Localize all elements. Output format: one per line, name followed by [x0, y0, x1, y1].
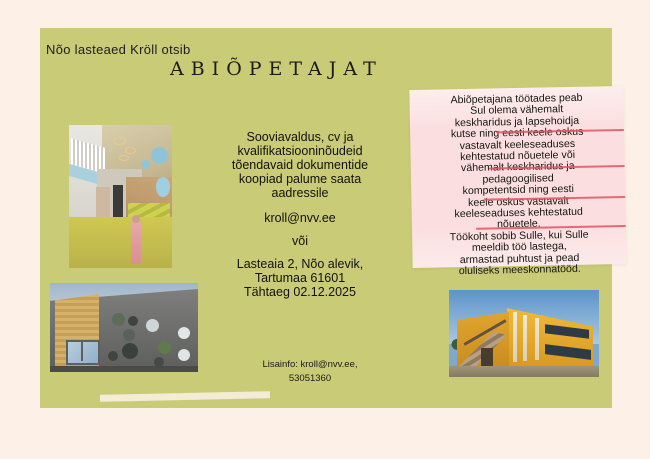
- footer-email-line[interactable]: Lisainfo: kroll@nvv.ee,: [215, 358, 405, 372]
- application-instructions: Sooviavaldus, cv ja kvalifikatsiooninõud…: [196, 130, 404, 299]
- poster-kicker: Nõo lasteaed Kröll otsib: [46, 42, 191, 57]
- intro-line-3: tõendavaid dokumentide: [196, 158, 404, 172]
- spacer: [196, 200, 404, 211]
- ground: [449, 366, 599, 377]
- floor: [69, 217, 172, 268]
- requirements-text: Abiõpetajana töötades peab Sul olema väh…: [413, 92, 622, 278]
- rectangular-window: [66, 340, 100, 365]
- porthole-window: [178, 327, 190, 339]
- corridor-doorway: [113, 185, 123, 217]
- birch-mural-stripe: [523, 315, 527, 361]
- requirements-sticky-note: Abiõpetajana töötades peab Sul olema väh…: [409, 86, 626, 268]
- ring-lamp: [125, 147, 136, 154]
- contact-email[interactable]: kroll@nvv.ee: [196, 211, 404, 225]
- porthole-window: [178, 349, 190, 361]
- address-line-2: Tartumaa 61601: [196, 271, 404, 285]
- panel-light-streak: [100, 391, 270, 402]
- page-title: ABIÕPETAJAT: [170, 58, 383, 80]
- spacer: [196, 225, 404, 234]
- birch-mural-stripe: [513, 312, 517, 362]
- round-window: [141, 160, 150, 169]
- porthole-window: [128, 316, 138, 326]
- application-deadline: Tähtaeg 02.12.2025: [196, 285, 404, 299]
- porthole-window: [146, 319, 159, 332]
- porthole-window: [122, 343, 138, 359]
- child-figure: [131, 220, 141, 264]
- corridor-door: [96, 187, 110, 221]
- intro-line-5: aadressile: [196, 186, 404, 200]
- porthole-window: [112, 313, 125, 326]
- footer-phone-line[interactable]: 53051360: [215, 372, 405, 386]
- window-mullion: [81, 340, 83, 361]
- porthole-window: [158, 341, 171, 354]
- poster-canvas: Nõo lasteaed Kröll otsib ABIÕPETAJAT Soo…: [0, 0, 650, 459]
- child-head: [132, 215, 140, 223]
- round-window: [151, 147, 168, 164]
- intro-line-1: Sooviavaldus, cv ja: [196, 130, 404, 144]
- round-window: [156, 177, 170, 197]
- photo-kindergarten-exterior: [50, 283, 198, 372]
- entrance-door: [481, 348, 493, 368]
- porthole-window: [108, 351, 118, 361]
- photo-yellow-building: [449, 290, 599, 377]
- ring-lamp: [113, 137, 126, 145]
- ground: [50, 366, 198, 372]
- porthole-window: [123, 329, 135, 341]
- footer-contact-info: Lisainfo: kroll@nvv.ee, 53051360: [215, 358, 405, 386]
- photo-kindergarten-interior: [69, 125, 172, 268]
- birch-mural-stripe: [535, 318, 539, 360]
- spacer: [196, 248, 404, 257]
- or-separator: või: [196, 234, 404, 248]
- intro-line-4: koopiad palume saata: [196, 172, 404, 186]
- ring-lamp: [119, 155, 129, 161]
- intro-line-2: kvalifikatsiooninõudeid: [196, 144, 404, 158]
- address-line-1: Lasteaia 2, Nõo alevik,: [196, 257, 404, 271]
